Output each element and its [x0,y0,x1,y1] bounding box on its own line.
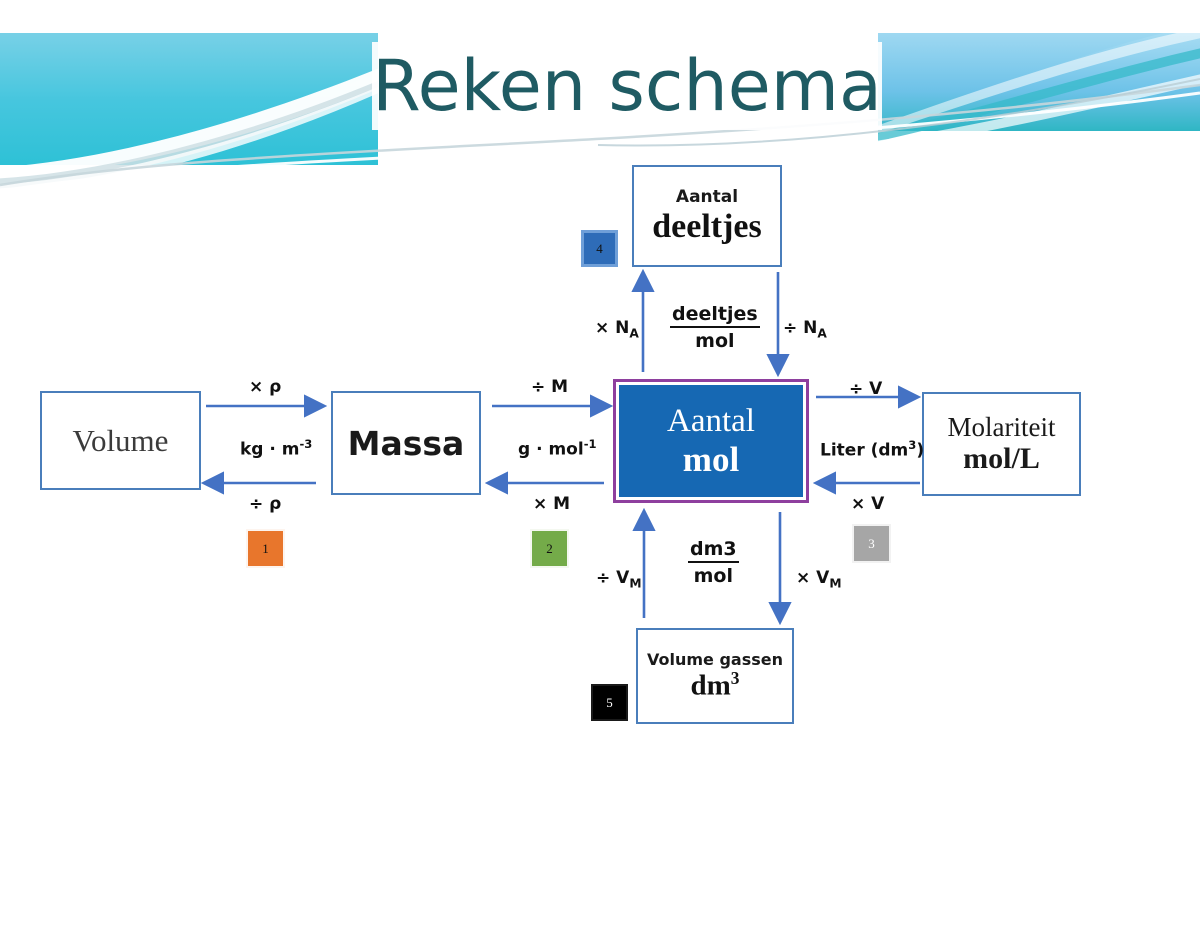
node-volume-gassen[interactable]: Volume gassen dm3 [636,628,794,724]
label-div-rho: ÷ ρ [249,494,281,514]
label-div-molarmass: ÷ M [531,377,568,397]
label-mult-volume: × V [851,494,884,514]
node-mol-label-line1: Aantal [667,403,755,440]
node-deeltjes-label-line1: Aantal [676,187,738,207]
step-badge-5[interactable]: 5 [591,684,628,721]
label-unit-liter: Liter (dm3) [820,438,924,461]
label-mult-molar-volume: × VM [796,568,842,590]
step-badge-2[interactable]: 2 [530,529,569,568]
step-badge-3[interactable]: 3 [852,524,891,563]
label-unit-density: kg · m-3 [240,437,312,460]
node-volume-label: Volume [73,423,169,459]
node-aantal-deeltjes[interactable]: Aantal deeltjes [632,165,782,267]
step-badge-4[interactable]: 4 [581,230,618,267]
node-gassen-label-line2: dm3 [691,669,740,703]
page-title: Reken schema [372,42,882,130]
node-massa-label: Massa [348,424,465,463]
node-gassen-label-line1: Volume gassen [647,650,783,669]
node-molariteit[interactable]: Molariteit mol/L [922,392,1081,496]
label-unit-molarmass: g · mol-1 [518,437,597,460]
node-massa[interactable]: Massa [331,391,481,495]
node-volume[interactable]: Volume [40,391,201,490]
fraction-dm3-per-mol: dm3 mol [688,538,739,587]
label-div-molar-volume: ÷ VM [596,568,642,590]
label-mult-molarmass: × M [533,494,570,514]
label-div-volume: ÷ V [849,379,882,399]
node-deeltjes-label-line2: deeltjes [652,208,762,245]
label-div-avogadro: ÷ NA [783,318,827,340]
step-badge-1[interactable]: 1 [246,529,285,568]
label-mult-avogadro: × NA [595,318,639,340]
label-mult-rho: × ρ [249,377,281,397]
node-molariteit-label-line1: Molariteit [948,413,1056,443]
node-mol-label-line2: mol [683,440,739,479]
node-aantal-mol[interactable]: Aantal mol [613,379,809,503]
node-molariteit-label-line2: mol/L [963,442,1040,475]
fraction-deeltjes-per-mol: deeltjes mol [670,303,760,352]
